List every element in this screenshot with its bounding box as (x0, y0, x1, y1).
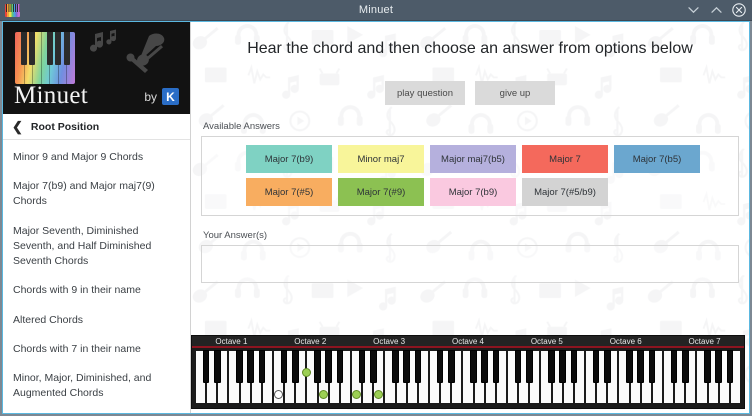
available-answers-box: Major 7(b9) Minor maj7 Major maj7(b5) Ma… (201, 136, 739, 216)
window-controls (686, 3, 746, 17)
piano-black-key[interactable] (682, 350, 689, 383)
sidebar-item-minor9-major9[interactable]: Minor 9 and Major 9 Chords (3, 143, 190, 172)
piano-keys[interactable] (195, 350, 741, 404)
your-answers-label: Your Answer(s) (203, 230, 749, 241)
sidebar: Minuet by K ❮ Root Position Minor 9 and … (3, 22, 191, 413)
octave-label: Octave 4 (429, 336, 508, 348)
octave-label: Octave 6 (586, 336, 665, 348)
piano-black-key[interactable] (526, 350, 533, 383)
piano-black-key[interactable] (325, 350, 332, 383)
close-circle-icon[interactable] (732, 3, 746, 17)
title-bar: Minuet (0, 0, 752, 21)
sidebar-item-lots-of-chords[interactable]: Lots of Chords (3, 408, 190, 413)
answer-option-major7b9-a[interactable]: Major 7(b9) (246, 145, 332, 173)
brand-wordmark: Minuet (14, 82, 88, 110)
answer-option-major7sharp9[interactable]: Major 7(#9) (338, 178, 424, 206)
action-buttons: play question give up (191, 81, 749, 105)
piano-black-key[interactable] (392, 350, 399, 383)
piano-black-key[interactable] (649, 350, 656, 383)
sidebar-item-label: Chords with 9 in their name (13, 284, 141, 296)
available-answers-section: Available Answers Major 7(b9) Minor maj7… (191, 121, 749, 216)
answer-row: Major 7(b9) Minor maj7 Major maj7(b5) Ma… (208, 145, 732, 173)
exercise-list: Minor 9 and Major 9 Chords Major 7(b9) a… (3, 140, 190, 413)
piano-black-key[interactable] (415, 350, 422, 383)
answer-option-major7b5[interactable]: Major 7(b5) (614, 145, 700, 173)
page-title: Hear the chord and then choose an answer… (191, 40, 749, 58)
brand-by: by K (144, 88, 179, 105)
piano-black-key[interactable] (727, 350, 734, 383)
octave-label: Octave 1 (192, 336, 271, 348)
app-window: Minuet (0, 0, 752, 416)
piano-black-key[interactable] (593, 350, 600, 383)
piano-black-key[interactable] (626, 350, 633, 383)
piano-black-key[interactable] (403, 350, 410, 383)
piano-black-key[interactable] (481, 350, 488, 383)
piano-black-key[interactable] (604, 350, 611, 383)
piano-black-key[interactable] (637, 350, 644, 383)
brand-by-text: by (144, 90, 157, 104)
sidebar-item-minor-major-dim-aug[interactable]: Minor, Major, Diminished, and Augmented … (3, 364, 190, 408)
your-answers-section: Your Answer(s) (191, 230, 749, 283)
app-frame: Minuet by K ❮ Root Position Minor 9 and … (2, 21, 750, 414)
window-body: Minuet by K ❮ Root Position Minor 9 and … (0, 21, 752, 416)
octave-label: Octave 2 (271, 336, 350, 348)
answer-option-major7b9-b[interactable]: Major 7(b9) (430, 178, 516, 206)
piano-black-key[interactable] (247, 350, 254, 383)
sidebar-item-major7b9[interactable]: Major 7(b9) and Major maj7(9) Chords (3, 172, 190, 216)
piano-black-key[interactable] (448, 350, 455, 383)
branding-panel: Minuet by K (3, 22, 190, 114)
sidebar-item-label: Altered Chords (13, 314, 83, 326)
piano-black-key[interactable] (359, 350, 366, 383)
piano-black-key[interactable] (203, 350, 210, 383)
piano-black-key[interactable] (259, 350, 266, 383)
piano-key-marker (352, 390, 361, 399)
answer-option-major-maj7b5[interactable]: Major maj7(b5) (430, 145, 516, 173)
piano-black-key[interactable] (370, 350, 377, 383)
sidebar-back-header[interactable]: ❮ Root Position (3, 114, 190, 140)
piano-black-key[interactable] (214, 350, 221, 383)
piano-black-key[interactable] (236, 350, 243, 383)
piano-key-marker (274, 390, 283, 399)
piano-black-key[interactable] (470, 350, 477, 383)
answer-row: Major 7(#5) Major 7(#9) Major 7(b9) Majo… (208, 178, 732, 206)
piano-keyboard[interactable]: Octave 1Octave 2Octave 3Octave 4Octave 5… (191, 335, 745, 409)
available-answers-label: Available Answers (203, 121, 749, 132)
octave-label: Octave 3 (350, 336, 429, 348)
sidebar-item-major-seventh[interactable]: Major Seventh, Diminished Seventh, and H… (3, 217, 190, 277)
octave-label: Octave 7 (665, 336, 744, 348)
give-up-button[interactable]: give up (475, 81, 555, 105)
piano-black-key[interactable] (493, 350, 500, 383)
piano-black-key[interactable] (671, 350, 678, 383)
piano-key-marker (319, 390, 328, 399)
sidebar-item-label: Minor 9 and Major 9 Chords (13, 151, 143, 163)
kde-logo-icon: K (162, 88, 179, 105)
answer-option-major7sharp5[interactable]: Major 7(#5) (246, 178, 332, 206)
sidebar-item-label: Major 7(b9) and Major maj7(9) Chords (13, 180, 155, 207)
sidebar-item-altered-chords[interactable]: Altered Chords (3, 306, 190, 335)
sidebar-item-label: Chords with 7 in their name (13, 343, 141, 355)
piano-rainbow-icon (5, 4, 20, 17)
piano-widget: Octave 1Octave 2Octave 3Octave 4Octave 5… (191, 335, 749, 413)
answer-option-major7[interactable]: Major 7 (522, 145, 608, 173)
piano-black-key[interactable] (281, 350, 288, 383)
piano-black-key[interactable] (292, 350, 299, 383)
rainbow-piano-icon (15, 32, 75, 84)
piano-black-key[interactable] (337, 350, 344, 383)
answer-option-minor-maj7[interactable]: Minor maj7 (338, 145, 424, 173)
piano-black-key[interactable] (548, 350, 555, 383)
chevron-left-icon[interactable]: ❮ (12, 120, 23, 133)
chevron-down-icon[interactable] (686, 3, 700, 17)
sidebar-item-chords-with-7[interactable]: Chords with 7 in their name (3, 335, 190, 364)
play-question-button[interactable]: play question (385, 81, 465, 105)
piano-black-key[interactable] (559, 350, 566, 383)
sidebar-item-label: Minor, Major, Diminished, and Augmented … (13, 372, 151, 399)
main-pane: Hear the chord and then choose an answer… (191, 22, 749, 413)
answer-option-major7sharp5b9[interactable]: Major 7(#5/b9) (522, 178, 608, 206)
piano-key-marker (302, 368, 311, 377)
music-decoration-icon (85, 28, 185, 80)
piano-black-key[interactable] (314, 350, 321, 383)
piano-black-key[interactable] (437, 350, 444, 383)
octave-label: Octave 5 (507, 336, 586, 348)
piano-black-key[interactable] (515, 350, 522, 383)
piano-black-key[interactable] (571, 350, 578, 383)
piano-black-key[interactable] (715, 350, 722, 383)
main-content: Hear the chord and then choose an answer… (191, 22, 749, 413)
octave-label-bar: Octave 1Octave 2Octave 3Octave 4Octave 5… (192, 336, 744, 348)
piano-black-key[interactable] (704, 350, 711, 383)
sidebar-item-label: Major Seventh, Diminished Seventh, and H… (13, 225, 151, 267)
your-answers-box[interactable] (201, 245, 739, 283)
sidebar-header-label: Root Position (31, 121, 99, 133)
sidebar-item-chords-with-9[interactable]: Chords with 9 in their name (3, 276, 190, 305)
chevron-up-icon[interactable] (709, 3, 723, 17)
window-title: Minuet (0, 4, 752, 16)
